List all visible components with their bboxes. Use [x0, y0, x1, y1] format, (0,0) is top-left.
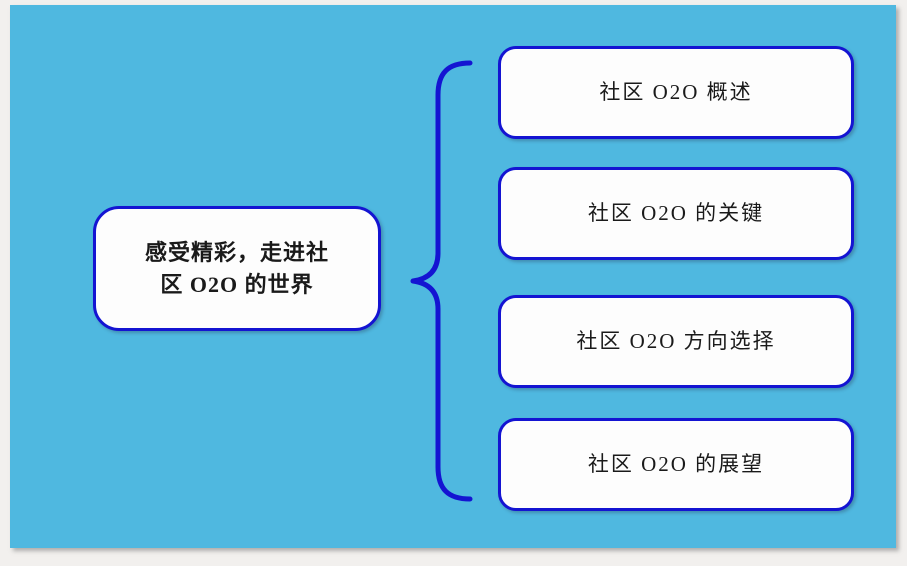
slide-root: 感受精彩，走进社 区 O2O 的世界 社区 O2O 概述 社区 O2O 的关键 … [0, 0, 907, 566]
diagram-canvas: 感受精彩，走进社 区 O2O 的世界 社区 O2O 概述 社区 O2O 的关键 … [10, 5, 896, 548]
branch-node-outlook[interactable]: 社区 O2O 的展望 [498, 418, 854, 511]
branch-node-direction[interactable]: 社区 O2O 方向选择 [498, 295, 854, 388]
branch-node-label: 社区 O2O 的关键 [588, 198, 764, 228]
branch-node-label: 社区 O2O 的展望 [588, 449, 764, 479]
branch-node-label: 社区 O2O 概述 [599, 77, 752, 107]
root-node[interactable]: 感受精彩，走进社 区 O2O 的世界 [93, 206, 381, 331]
branch-node-key[interactable]: 社区 O2O 的关键 [498, 167, 854, 260]
branch-node-overview[interactable]: 社区 O2O 概述 [498, 46, 854, 139]
brace-path [413, 63, 470, 499]
curly-brace-connector [402, 57, 482, 505]
branch-node-label: 社区 O2O 方向选择 [576, 326, 775, 356]
root-node-label: 感受精彩，走进社 区 O2O 的世界 [145, 237, 329, 301]
